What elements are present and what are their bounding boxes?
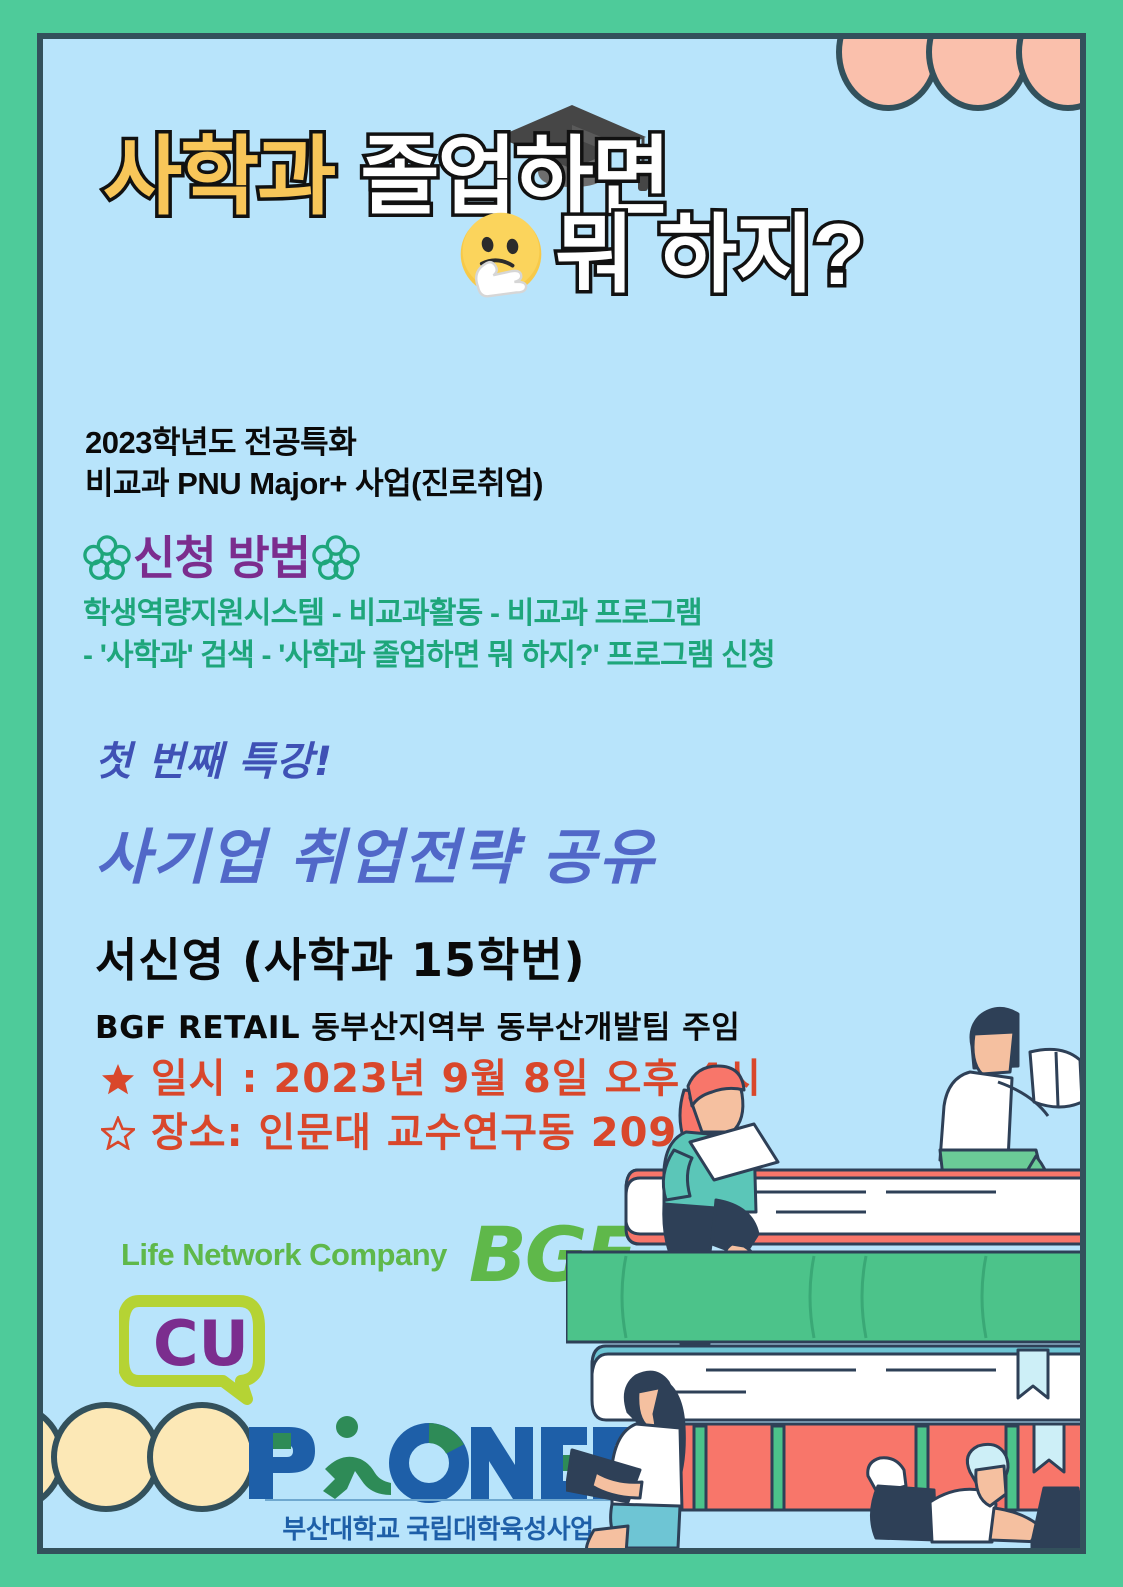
decorative-circles-top-right bbox=[850, 33, 1086, 111]
bgf-tagline: Life Network Company bbox=[121, 1237, 447, 1273]
subtitle-line-1: 2023학년도 전공특화 bbox=[85, 422, 543, 463]
apply-step-line-2: - '사학과' 검색 - '사학과 졸업하면 뭐 하지?' 프로그램 신청 bbox=[83, 636, 775, 676]
pioneer-divider bbox=[265, 1499, 611, 1501]
headline-word-mwo: 뭐 bbox=[555, 212, 632, 300]
apply-method-steps: 학생역량지원시스템 - 비교과활동 - 비교과 프로그램 - '사학과' 검색 … bbox=[83, 594, 775, 676]
poster-frame: 사학과 졸업하면 뭐 하지? 2023학년도 전공특화 비교과 PNU Majo… bbox=[37, 33, 1086, 1554]
thinking-face-emoji bbox=[453, 208, 549, 304]
book-green bbox=[566, 1252, 1086, 1342]
decorative-circle bbox=[836, 33, 940, 111]
decorative-circle bbox=[926, 33, 1030, 111]
decorative-circles-bottom-left bbox=[37, 1402, 257, 1512]
decorative-circle bbox=[147, 1402, 257, 1512]
student-laptop-sitting-figure bbox=[566, 1372, 684, 1554]
headline: 사학과 졸업하면 뭐 하지? bbox=[75, 134, 1085, 304]
cu-logo: CU bbox=[119, 1287, 283, 1407]
filled-star-icon bbox=[101, 1062, 135, 1096]
bgf-logo: Life Network Company BGF bbox=[121, 1217, 635, 1293]
headline-word-haji: 하지? bbox=[658, 212, 863, 300]
flower-icon bbox=[312, 534, 360, 582]
subtitle-line-2: 비교과 PNU Major+ 사업(진로취업) bbox=[85, 463, 543, 504]
outline-star-icon bbox=[101, 1116, 135, 1150]
lecture-section: 첫 번째 특강! 사기업 취업전략 공유 bbox=[95, 729, 656, 896]
subtitle: 2023학년도 전공특화 비교과 PNU Major+ 사업(진로취업) bbox=[85, 422, 543, 504]
cu-wordmark: CU bbox=[153, 1307, 249, 1380]
book-stack-illustration bbox=[566, 974, 1086, 1554]
decorative-circle bbox=[1016, 33, 1086, 111]
apply-method-label: 신청 방법 bbox=[133, 535, 310, 581]
flower-icon bbox=[83, 534, 131, 582]
lecture-title: 사기업 취업전략 공유 bbox=[95, 809, 656, 896]
headline-word-sahakgwa: 사학과 bbox=[103, 134, 334, 222]
apply-step-line-1: 학생역량지원시스템 - 비교과활동 - 비교과 프로그램 bbox=[83, 594, 775, 634]
apply-method-section: 신청 방법 학생역량지원시스템 - 비교과활동 - 비교과 프로그램 - '사학… bbox=[83, 534, 775, 676]
book-red-striped bbox=[648, 1424, 1086, 1510]
lecture-order-label: 첫 번째 특강! bbox=[95, 729, 656, 787]
decorative-circle bbox=[51, 1402, 161, 1512]
apply-method-heading: 신청 방법 bbox=[83, 534, 775, 582]
